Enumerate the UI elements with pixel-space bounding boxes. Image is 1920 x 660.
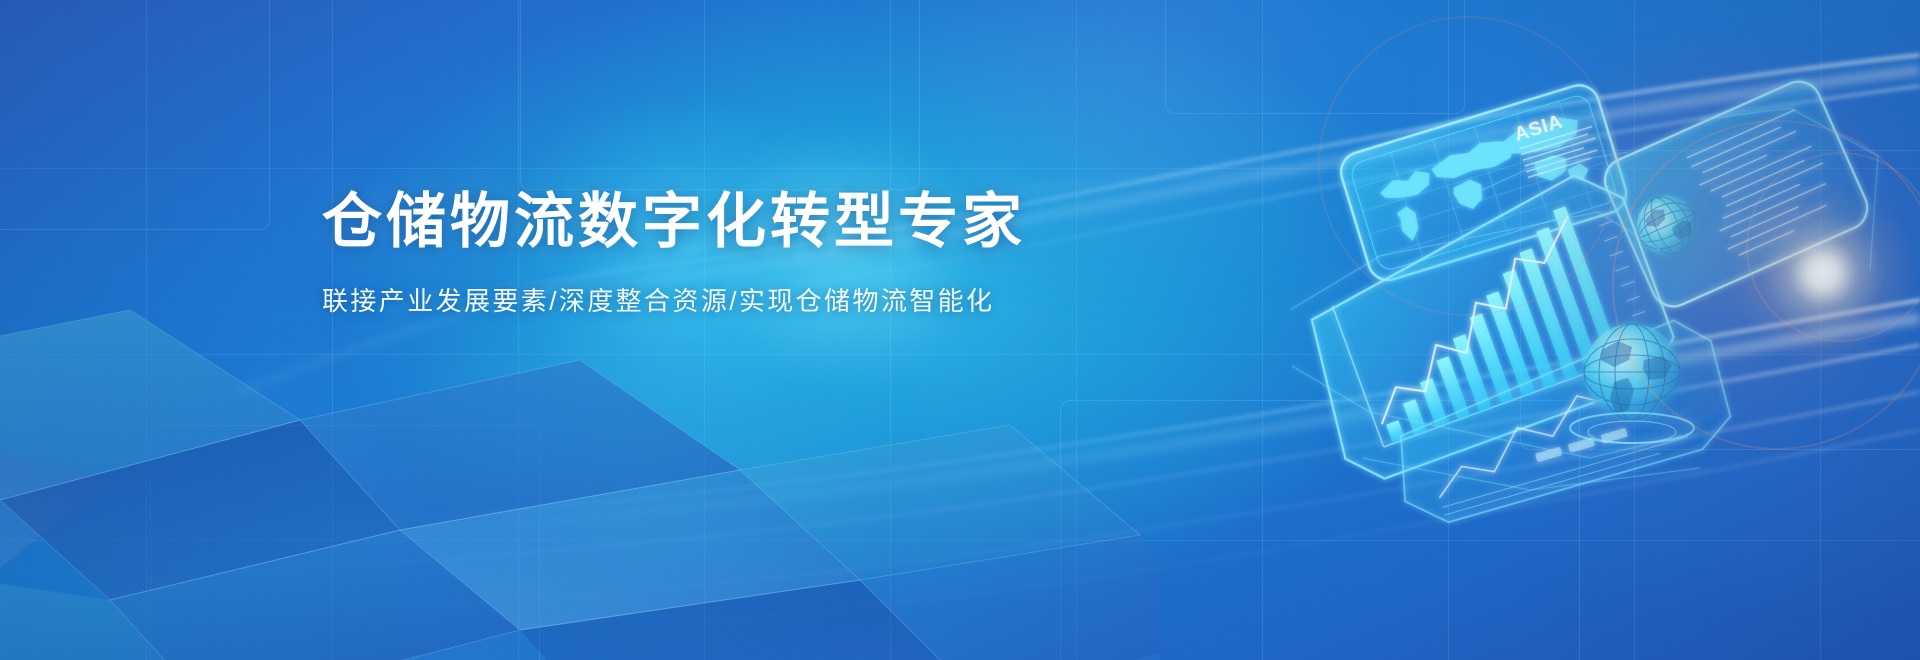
banner-headline: 仓储物流数字化转型专家 xyxy=(322,188,1322,255)
background-grid-lines xyxy=(0,0,1920,660)
low-poly-facets xyxy=(0,300,1160,660)
banner-copy: 仓储物流数字化转型专家 联接产业发展要素/深度整合资源/实现仓储物流智能化 xyxy=(322,188,1322,318)
grid-box xyxy=(1165,0,1465,114)
holo-line-chart xyxy=(1337,216,1613,424)
grid-box xyxy=(1520,150,1920,450)
holo-asia-label: ASIA xyxy=(1512,111,1565,146)
vignette-overlay xyxy=(0,0,1920,660)
grid-box xyxy=(520,0,920,190)
hero-banner: ASIA xyxy=(0,0,1920,660)
center-glow-wide xyxy=(330,300,970,620)
lens-flare-warm-glow xyxy=(1500,30,1920,460)
hologram-cluster: ASIA xyxy=(1230,60,1920,490)
grain-texture xyxy=(0,0,1920,660)
holo-bar-chart xyxy=(1337,206,1621,443)
lens-flare-ring xyxy=(1746,152,1920,342)
holo-globe xyxy=(1570,324,1694,443)
grid-box xyxy=(0,0,270,230)
grid-box xyxy=(150,425,540,660)
lens-flare-core xyxy=(1728,178,1918,368)
grid-box xyxy=(1060,400,1580,660)
banner-subheadline: 联接产业发展要素/深度整合资源/实现仓储物流智能化 xyxy=(322,281,1322,318)
lens-flare-ring xyxy=(1318,16,1618,316)
light-streaks xyxy=(0,0,1920,660)
background-grid-boxes xyxy=(0,0,1920,660)
lens-flare-ring xyxy=(1612,120,1920,450)
